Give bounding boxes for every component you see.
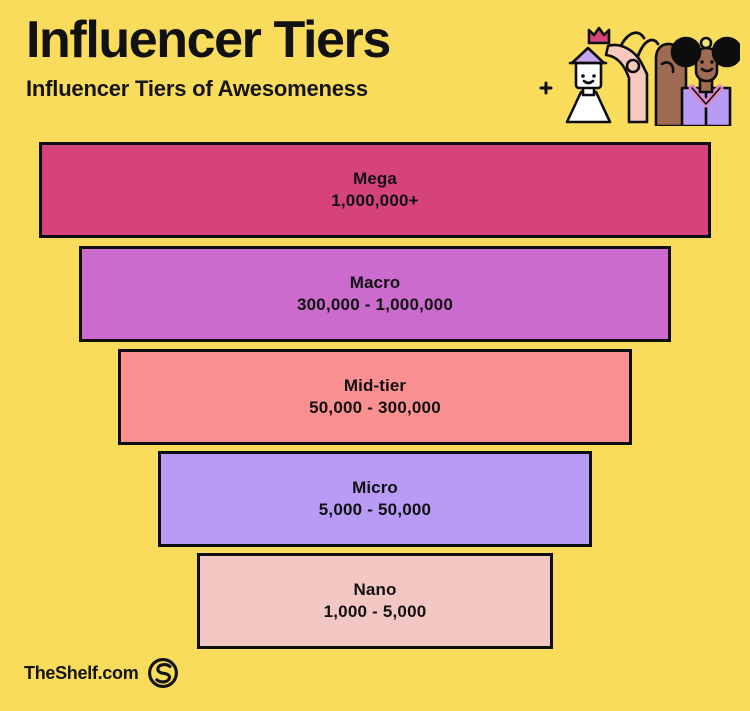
tier-range: 300,000 - 1,000,000 <box>297 294 453 316</box>
hand-thumb <box>627 60 639 72</box>
footer: TheShelf.com <box>24 657 179 689</box>
person-body <box>567 92 610 122</box>
afro-puff-left <box>672 38 700 66</box>
brand-name: TheShelf.com <box>24 663 138 684</box>
tier-row-mega[interactable]: Mega 1,000,000+ <box>39 142 711 238</box>
tier-name: Micro <box>352 477 398 499</box>
tier-name: Mega <box>353 168 397 190</box>
influencer-tier-funnel: Mega 1,000,000+ Macro 300,000 - 1,000,00… <box>0 142 750 648</box>
tier-range: 5,000 - 50,000 <box>319 499 431 521</box>
tier-name: Mid-tier <box>344 375 406 397</box>
circle-s-logo-svg <box>147 657 179 689</box>
crowning-influencers-illustration <box>534 22 740 126</box>
afro-top-knot <box>701 38 711 48</box>
hand-placing-crown <box>606 45 647 122</box>
tier-row-mid-tier[interactable]: Mid-tier 50,000 - 300,000 <box>118 349 632 445</box>
tier-row-macro[interactable]: Macro 300,000 - 1,000,000 <box>79 246 671 342</box>
tier-name: Macro <box>350 272 401 294</box>
tier-name: Nano <box>354 579 397 601</box>
tier-range: 1,000 - 5,000 <box>324 601 427 623</box>
tier-row-nano[interactable]: Nano 1,000 - 5,000 <box>197 553 553 649</box>
circle-s-logo-icon <box>147 657 179 689</box>
tier-range: 50,000 - 300,000 <box>309 397 441 419</box>
afro-puff-right <box>713 38 740 66</box>
tier-range: 1,000,000+ <box>331 190 419 212</box>
plus-sign-icon <box>541 83 551 93</box>
crown-icon <box>589 28 609 43</box>
tier-row-micro[interactable]: Micro 5,000 - 50,000 <box>158 451 592 547</box>
person-hat <box>572 48 604 63</box>
illustration-svg <box>534 22 740 126</box>
